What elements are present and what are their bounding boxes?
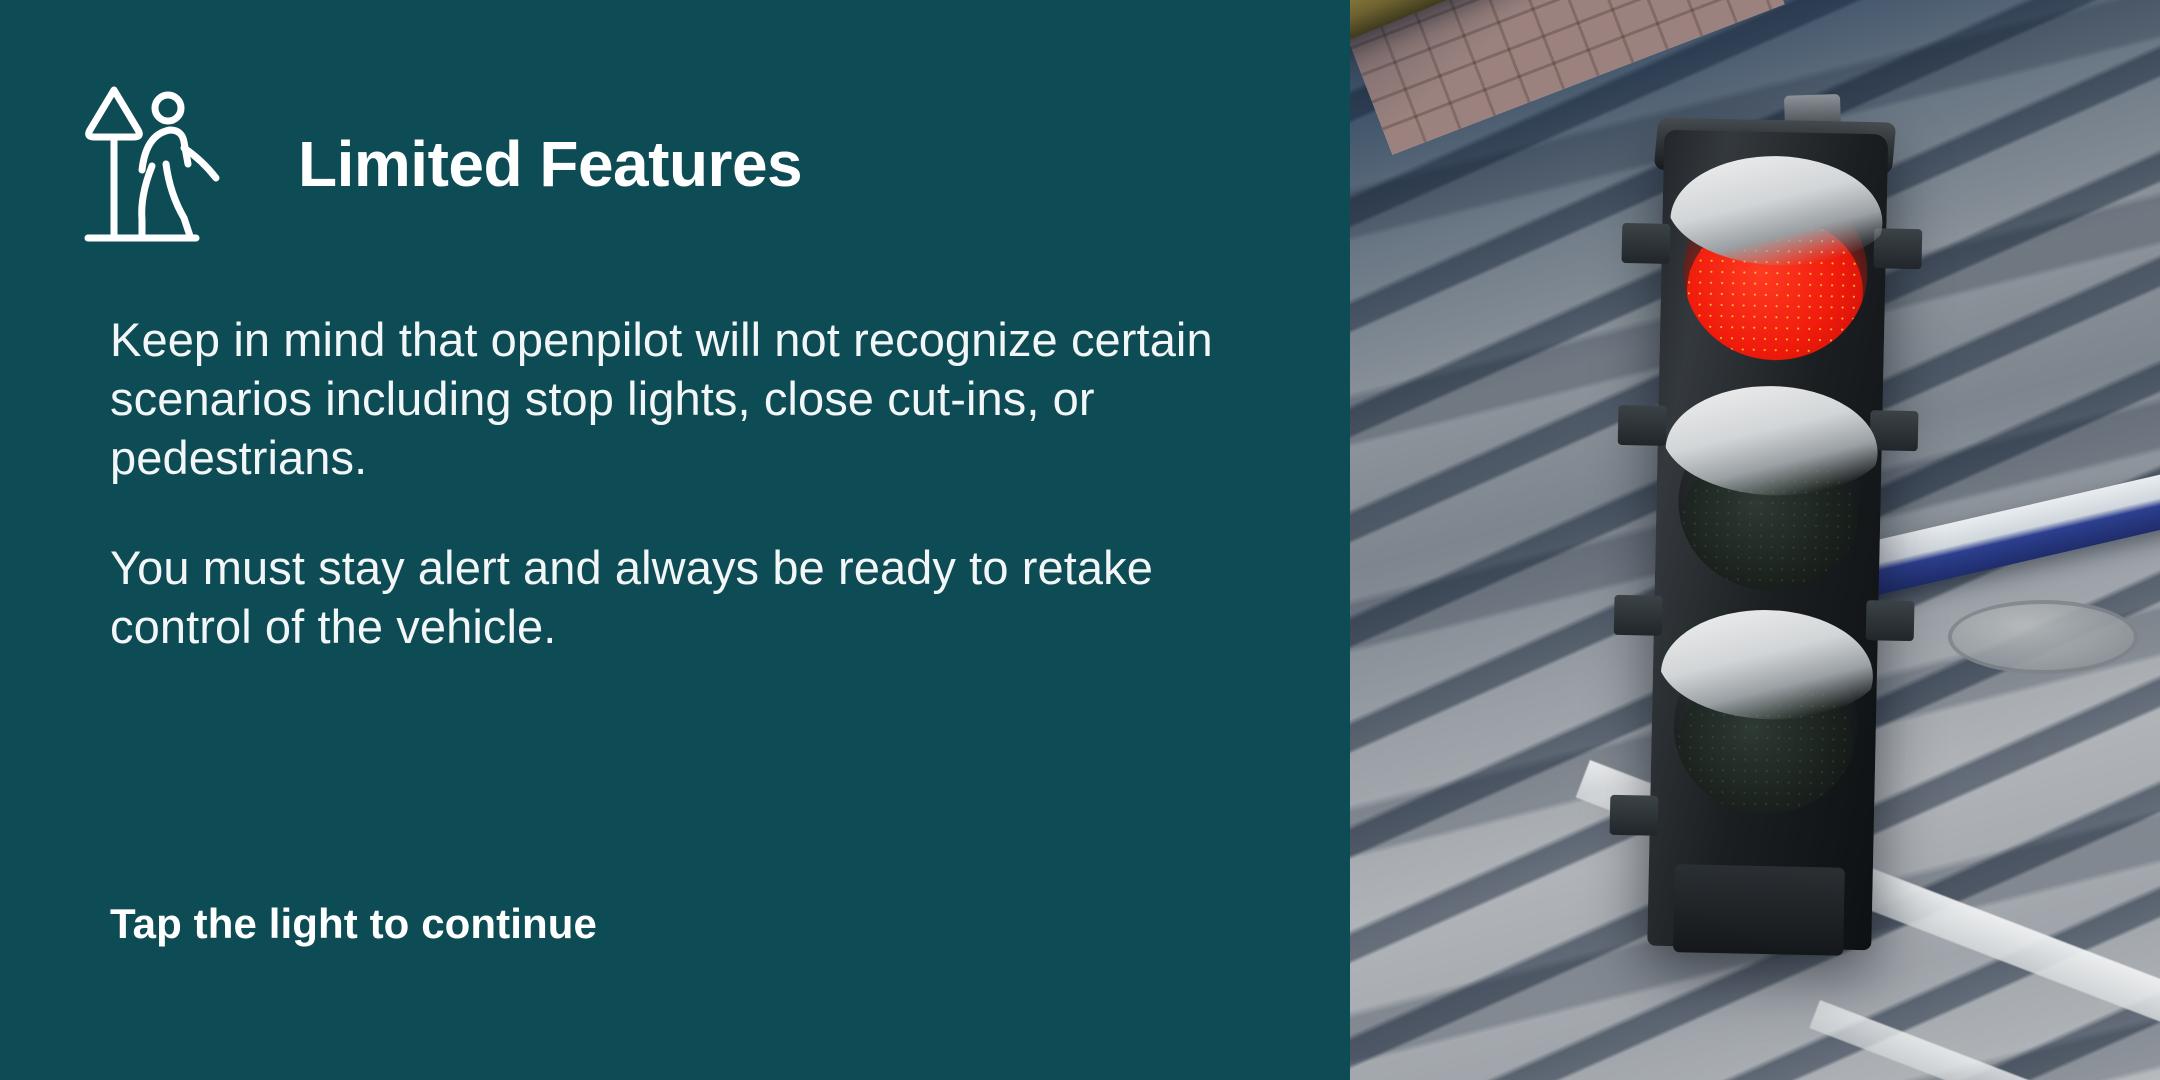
housing-bracket-left-3	[1614, 595, 1663, 636]
red-lamp-dish	[1682, 182, 1870, 362]
green-lamp[interactable]	[1662, 614, 1870, 824]
info-panel: Limited Features Keep in mind that openp…	[0, 0, 1350, 1080]
cta-instruction: Tap the light to continue	[110, 900, 597, 948]
housing-bracket-left-4	[1610, 795, 1659, 836]
amber-lamp-lens	[1681, 444, 1860, 592]
green-lamp-dish	[1672, 636, 1860, 816]
body-paragraph-1: Keep in mind that openpilot will not rec…	[110, 310, 1270, 488]
traffic-light-fixture[interactable]	[1613, 105, 1919, 951]
traffic-light-pole-mount	[1673, 864, 1845, 956]
photo-stage	[1350, 0, 2160, 1080]
panel-header: Limited Features	[84, 78, 802, 250]
red-lamp[interactable]	[1671, 160, 1879, 370]
amber-lamp[interactable]	[1667, 390, 1875, 600]
amber-lamp-dish	[1677, 412, 1865, 592]
green-lamp-lens	[1676, 668, 1855, 816]
red-lamp-lens	[1685, 214, 1864, 362]
pedestrian-crossing-sign-icon	[84, 78, 256, 250]
traffic-light-photo[interactable]	[1350, 0, 2160, 1080]
body-copy: Keep in mind that openpilot will not rec…	[110, 310, 1270, 656]
housing-bracket-right-1	[1873, 228, 1922, 269]
onboarding-screen: Limited Features Keep in mind that openp…	[0, 0, 2160, 1080]
housing-bracket-right-3	[1866, 600, 1915, 641]
body-paragraph-2: You must stay alert and always be ready …	[110, 538, 1270, 656]
housing-bracket-left-2	[1618, 405, 1667, 446]
page-title: Limited Features	[298, 132, 802, 196]
housing-bracket-right-2	[1870, 410, 1919, 451]
manhole-cover	[1948, 600, 2138, 674]
housing-bracket-left-1	[1622, 223, 1671, 264]
